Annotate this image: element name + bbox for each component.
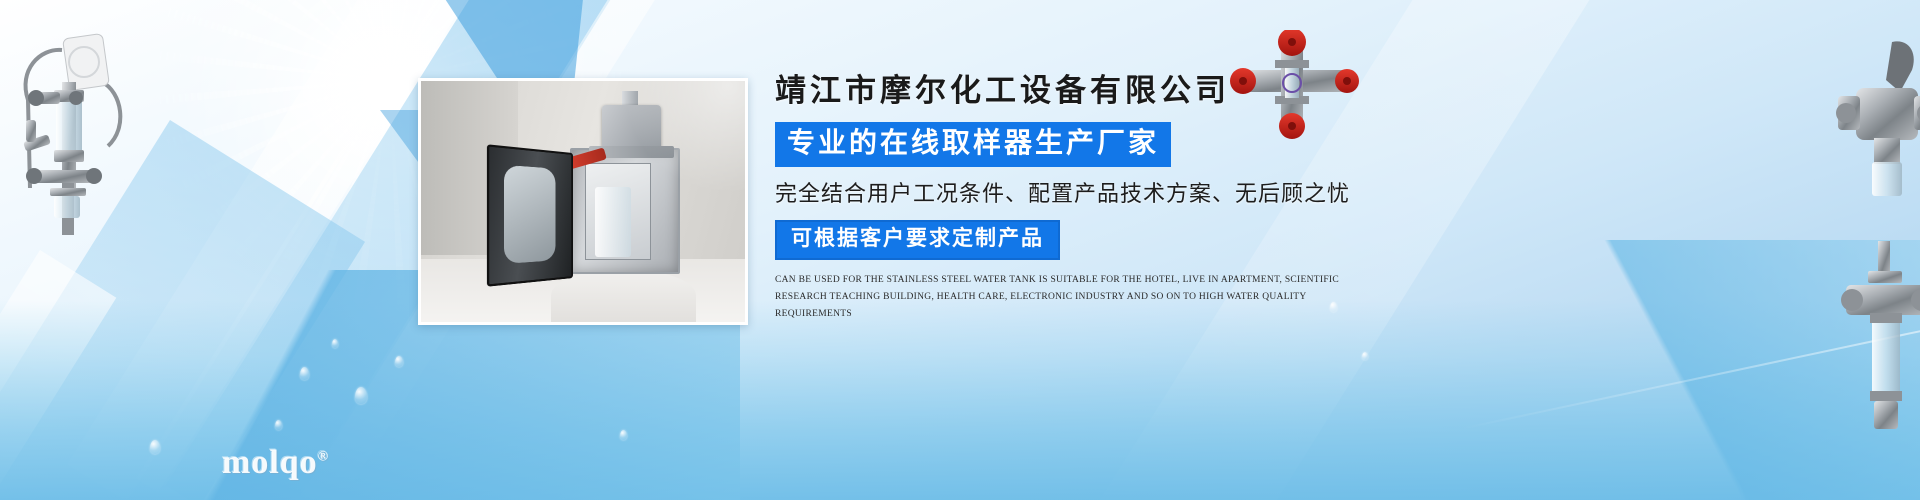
sub-headline: 完全结合用户工况条件、配置产品技术方案、无后顾之忧	[775, 179, 1415, 209]
company-name: 靖江市摩尔化工设备有限公司	[775, 72, 1415, 111]
cta-badge[interactable]: 可根据客户要求定制产品	[775, 220, 1060, 260]
water-diagonal-right	[1400, 240, 1920, 500]
water-droplet-icon	[395, 356, 403, 367]
sampler-unit-icon	[10, 20, 160, 290]
lever-valve-icon	[1830, 30, 1920, 200]
water-droplet-icon	[150, 440, 160, 454]
watermark-text: molqo	[222, 444, 318, 481]
headline-badge: 专业的在线取样器生产厂家	[775, 122, 1171, 167]
water-droplet-icon	[332, 339, 338, 348]
watermark-logo: molqo®	[222, 444, 329, 482]
english-caption: CAN BE USED FOR THE STAINLESS STEEL WATE…	[775, 272, 1375, 322]
water-droplet-icon	[355, 387, 367, 404]
water-droplet-icon	[275, 420, 282, 430]
water-droplet-icon	[300, 367, 309, 380]
water-droplet-icon	[1362, 352, 1368, 360]
water-droplet-icon	[620, 430, 627, 440]
product-photo	[418, 78, 748, 325]
banner-copy: 靖江市摩尔化工设备有限公司 专业的在线取样器生产厂家 完全结合用户工况条件、配置…	[775, 72, 1415, 322]
promo-banner: 靖江市摩尔化工设备有限公司 专业的在线取样器生产厂家 完全结合用户工况条件、配置…	[0, 0, 1920, 500]
registered-mark-icon: ®	[318, 450, 329, 465]
